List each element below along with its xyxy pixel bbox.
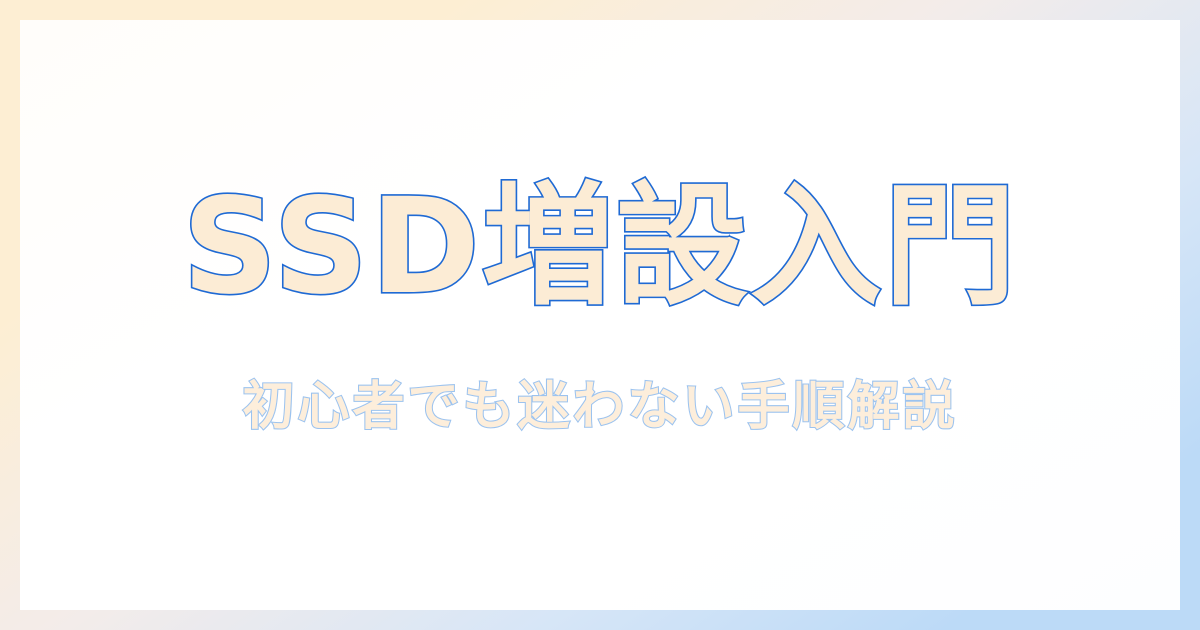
page-title: SSD増設入門 xyxy=(182,176,1018,319)
white-content-panel: SSD増設入門 初心者でも迷わない手順解説 xyxy=(20,20,1180,610)
text-stack: SSD増設入門 初心者でも迷わない手順解説 xyxy=(20,176,1180,436)
subtitle-text: 初心者でも迷わない手順解説 xyxy=(242,379,957,436)
page-subtitle: 初心者でも迷わない手順解説 xyxy=(242,379,957,436)
title-text: SSD増設入門 xyxy=(182,176,1018,319)
title-card-canvas: SSD増設入門 初心者でも迷わない手順解説 xyxy=(0,0,1200,630)
